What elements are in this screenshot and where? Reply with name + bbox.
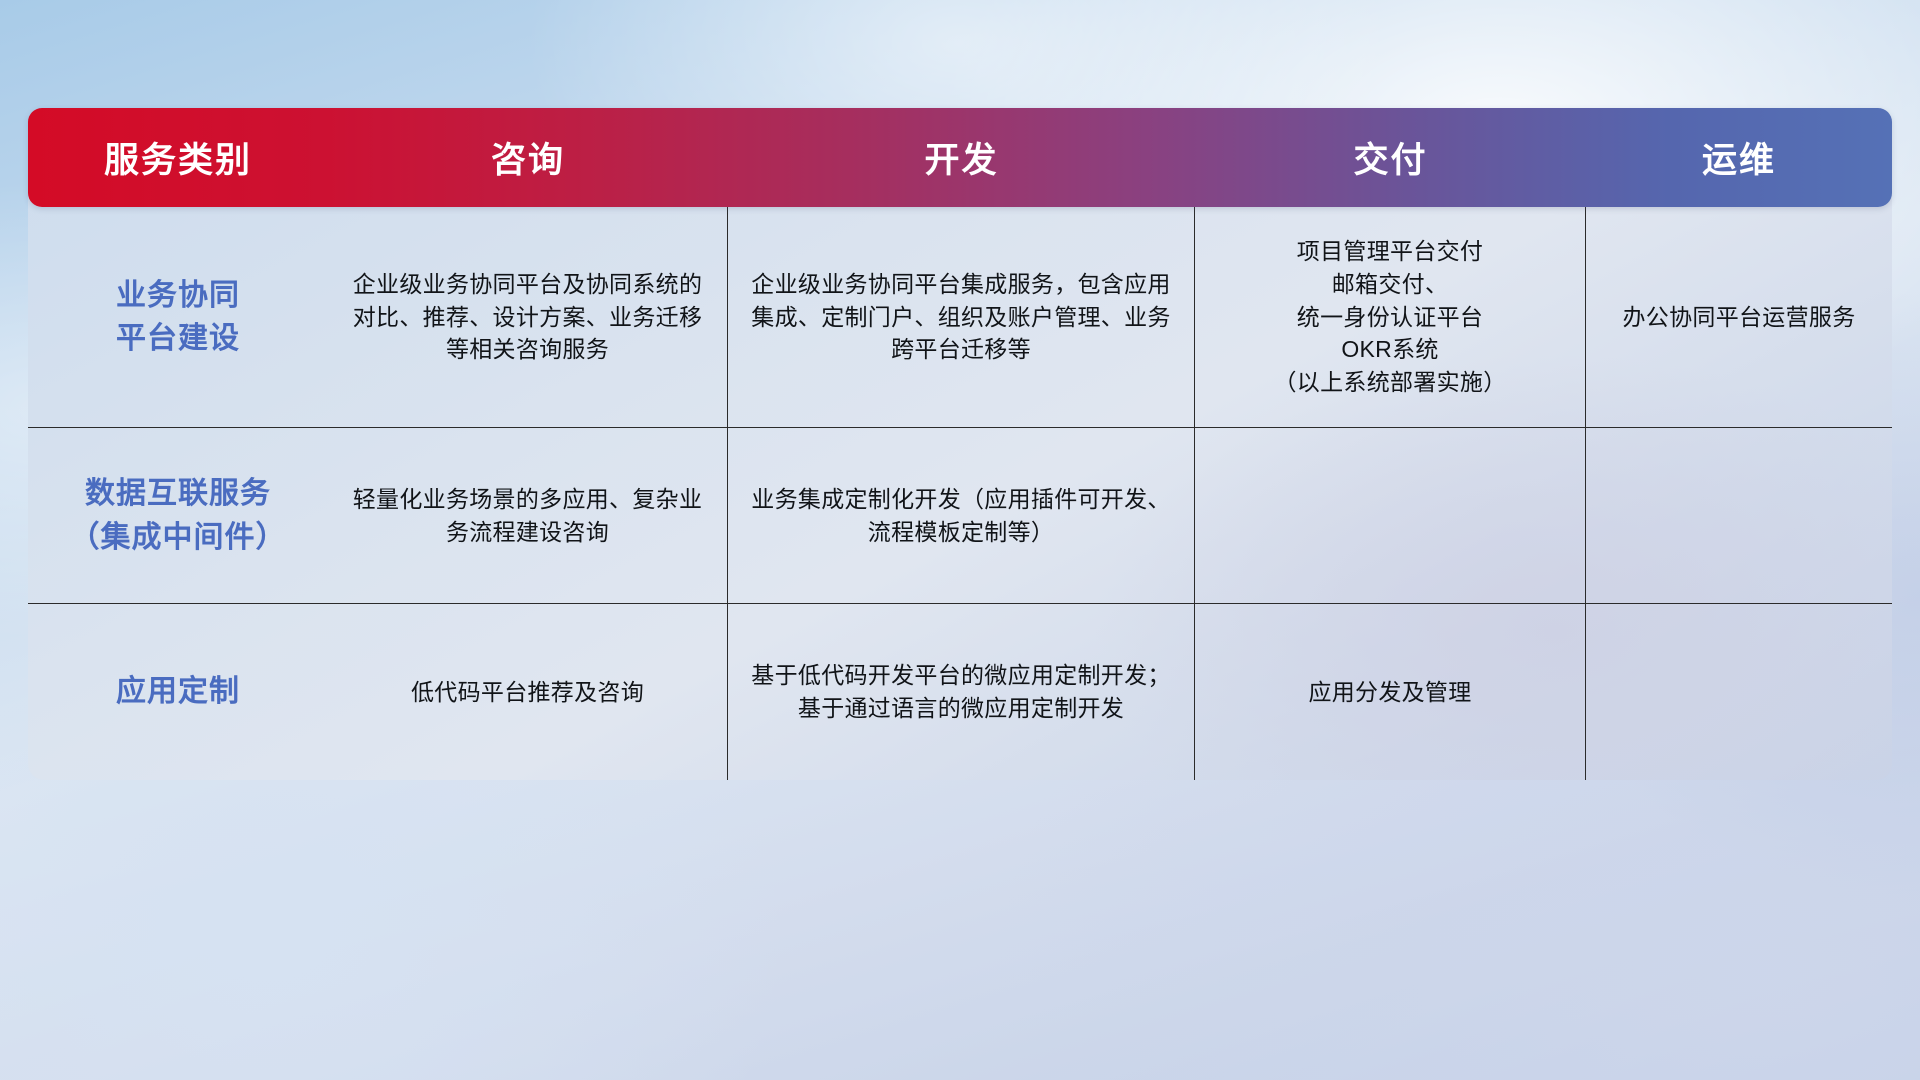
column-header-development: 开发: [728, 108, 1195, 207]
cell-delivery: 项目管理平台交付 邮箱交付、 统一身份认证平台 OKR系统 （以上系统部署实施）: [1195, 207, 1586, 427]
cell-text: 项目管理平台交付 邮箱交付、 统一身份认证平台 OKR系统 （以上系统部署实施）: [1274, 235, 1507, 398]
cell-text: 应用分发及管理: [1308, 676, 1471, 709]
category-label: 数据互联服务 （集成中间件）: [70, 472, 287, 559]
cell-text: 低代码平台推荐及咨询: [411, 676, 644, 709]
cell-delivery: 应用分发及管理: [1195, 604, 1586, 780]
cell-operations: 办公协同平台运营服务: [1586, 207, 1892, 427]
table-row: 应用定制 低代码平台推荐及咨询 基于低代码开发平台的微应用定制开发； 基于通过语…: [28, 604, 1892, 780]
column-header-service-category: 服务类别: [28, 108, 328, 207]
table-row: 数据互联服务 （集成中间件） 轻量化业务场景的多应用、复杂业务流程建设咨询 业务…: [28, 428, 1892, 604]
cell-operations: [1586, 428, 1892, 603]
row-category-cell: 数据互联服务 （集成中间件）: [28, 428, 328, 603]
cell-text: 业务集成定制化开发（应用插件可开发、流程模板定制等）: [742, 483, 1180, 548]
row-category-cell: 应用定制: [28, 604, 328, 780]
cell-delivery: [1195, 428, 1586, 603]
cell-consulting: 轻量化业务场景的多应用、复杂业务流程建设咨询: [328, 428, 728, 603]
cell-text: 轻量化业务场景的多应用、复杂业务流程建设咨询: [342, 483, 713, 548]
category-label: 应用定制: [116, 670, 240, 714]
cell-text: 企业级业务协同平台及协同系统的对比、推荐、设计方案、业务迁移等相关咨询服务: [342, 268, 713, 366]
cell-text: 基于低代码开发平台的微应用定制开发； 基于通过语言的微应用定制开发: [751, 659, 1170, 724]
cell-operations: [1586, 604, 1892, 780]
row-category-cell: 业务协同 平台建设: [28, 207, 328, 427]
table-row: 业务协同 平台建设 企业级业务协同平台及协同系统的对比、推荐、设计方案、业务迁移…: [28, 207, 1892, 428]
column-header-operations: 运维: [1586, 108, 1892, 207]
category-label: 业务协同 平台建设: [116, 274, 240, 361]
column-header-delivery: 交付: [1195, 108, 1586, 207]
cell-consulting: 企业级业务协同平台及协同系统的对比、推荐、设计方案、业务迁移等相关咨询服务: [328, 207, 728, 427]
table-header-row: 服务类别 咨询 开发 交付 运维: [28, 108, 1892, 207]
cell-consulting: 低代码平台推荐及咨询: [328, 604, 728, 780]
cell-text: 办公协同平台运营服务: [1623, 301, 1856, 334]
cell-text: 企业级业务协同平台集成服务，包含应用集成、定制门户、组织及账户管理、业务跨平台迁…: [742, 268, 1180, 366]
cell-development: 业务集成定制化开发（应用插件可开发、流程模板定制等）: [728, 428, 1195, 603]
table-grid: 业务协同 平台建设 企业级业务协同平台及协同系统的对比、推荐、设计方案、业务迁移…: [28, 207, 1892, 780]
cell-development: 企业级业务协同平台集成服务，包含应用集成、定制门户、组织及账户管理、业务跨平台迁…: [728, 207, 1195, 427]
service-matrix-table: 服务类别 咨询 开发 交付 运维 业务协同 平台建设 企业级业务协同平台及协同系…: [28, 108, 1892, 780]
cell-development: 基于低代码开发平台的微应用定制开发； 基于通过语言的微应用定制开发: [728, 604, 1195, 780]
column-header-consulting: 咨询: [328, 108, 728, 207]
